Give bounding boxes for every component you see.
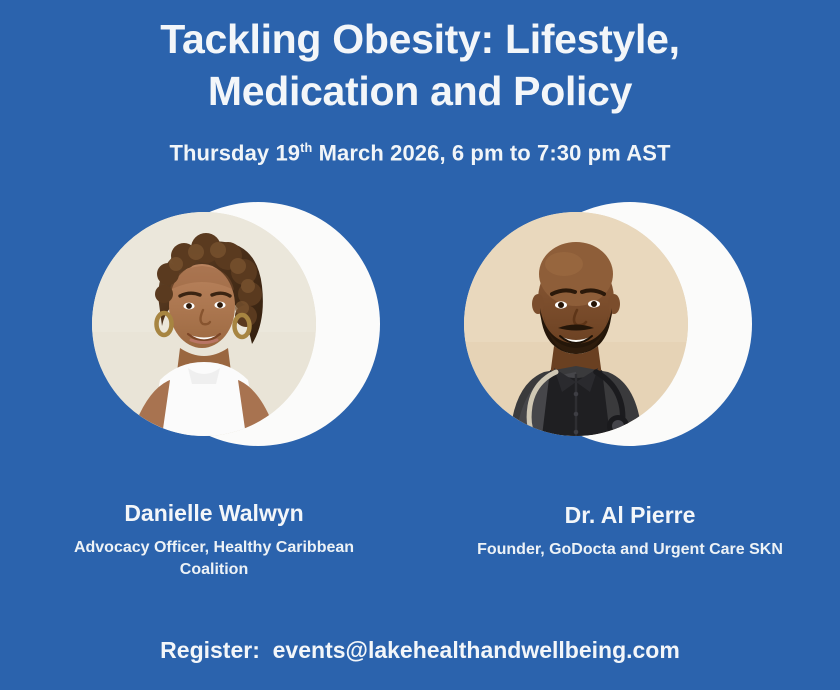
avatar-danielle-walwyn	[92, 212, 316, 436]
title-line-1: Tackling Obesity: Lifestyle,	[60, 14, 780, 66]
speaker-caption-danielle-walwyn: Danielle Walwyn Advocacy Officer, Health…	[14, 500, 414, 582]
register-line[interactable]: Register: events@lakehealthandwellbeing.…	[0, 637, 840, 664]
date-prefix: Thursday 19	[169, 140, 300, 165]
page-title: Tackling Obesity: Lifestyle, Medication …	[0, 14, 840, 117]
speaker-name: Danielle Walwyn	[14, 500, 414, 528]
event-datetime: Thursday 19th March 2026, 6 pm to 7:30 p…	[0, 140, 840, 166]
speaker-role-line-1: Founder, GoDocta and Urgent	[477, 541, 705, 558]
speaker-portrait-dr-al-pierre	[452, 196, 732, 486]
photo-illustration-right	[464, 212, 688, 436]
photo-illustration-left	[92, 212, 316, 436]
speaker-role-line-2: Care SKN	[709, 541, 783, 558]
webinar-poster: Tackling Obesity: Lifestyle, Medication …	[0, 0, 840, 690]
speaker-role: Founder, GoDocta and Urgent Care SKN	[430, 539, 830, 562]
date-suffix: March 2026, 6 pm to 7:30 pm AST	[312, 140, 670, 165]
speaker-role: Advocacy Officer, Healthy Caribbean Coal…	[14, 537, 414, 582]
date-ordinal-suffix: th	[300, 140, 312, 155]
speaker-caption-dr-al-pierre: Dr. Al Pierre Founder, GoDocta and Urgen…	[430, 502, 830, 561]
avatar-dr-al-pierre	[464, 212, 688, 436]
title-line-2: Medication and Policy	[60, 66, 780, 118]
speaker-portrait-row	[0, 196, 840, 486]
speaker-portrait-danielle-walwyn	[80, 196, 360, 486]
speaker-role-line-1: Advocacy Officer, Healthy Caribbean	[74, 539, 354, 556]
speaker-role-line-2: Coalition	[180, 561, 248, 578]
speaker-name: Dr. Al Pierre	[430, 502, 830, 530]
